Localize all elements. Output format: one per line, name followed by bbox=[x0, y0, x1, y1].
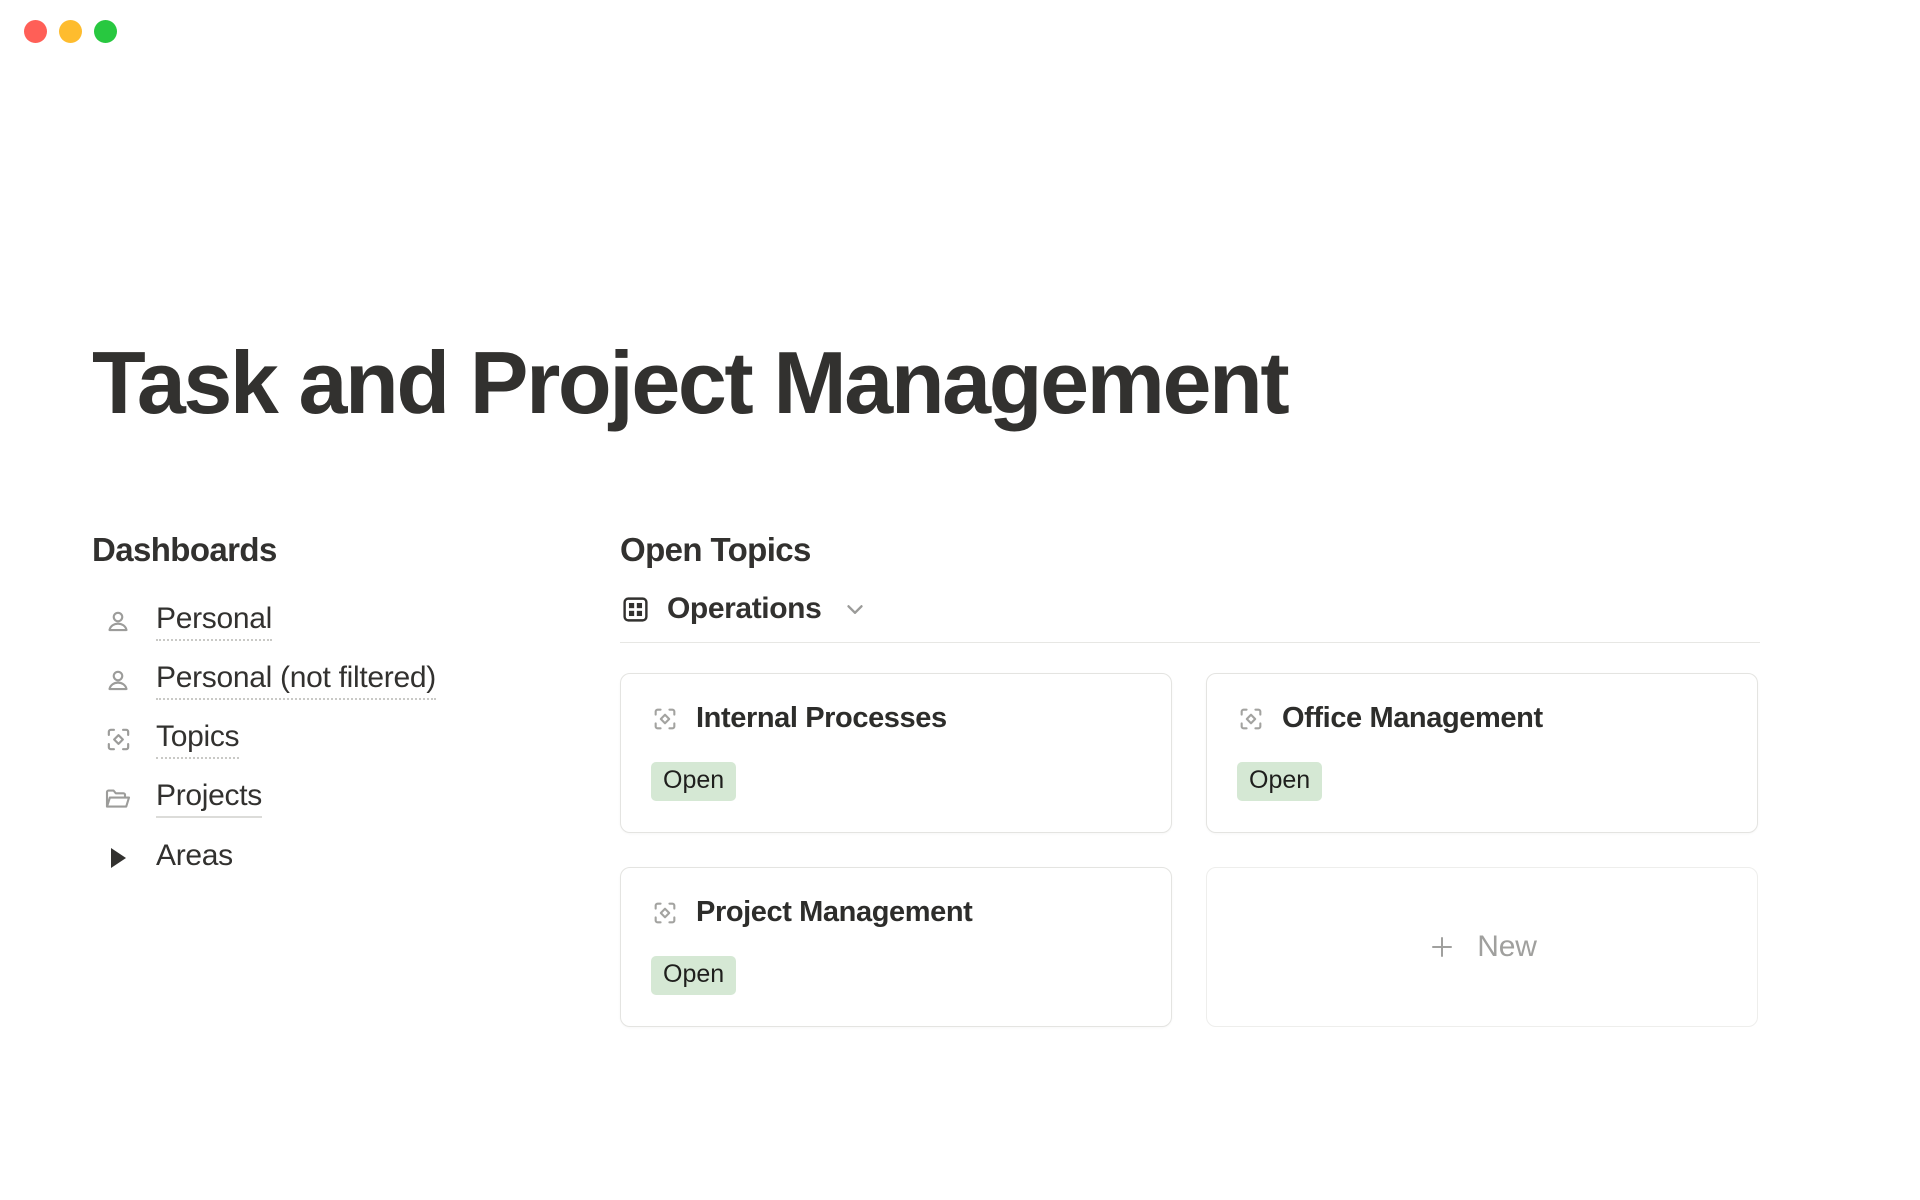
chevron-down-icon[interactable] bbox=[842, 596, 868, 622]
sidebar-item-areas[interactable]: Areas bbox=[92, 828, 620, 887]
minimize-window-button[interactable] bbox=[59, 20, 82, 43]
sidebar-item-label: Personal (not filtered) bbox=[156, 661, 436, 700]
topic-card-grid: Internal Processes Open bbox=[620, 673, 1758, 1027]
new-topic-label: New bbox=[1477, 930, 1536, 964]
sidebar-item-personal[interactable]: Personal bbox=[92, 592, 620, 651]
topic-icon bbox=[102, 724, 134, 756]
status-badge: Open bbox=[1237, 762, 1322, 801]
page-content: Task and Project Management Dashboards P… bbox=[0, 62, 1920, 1200]
topic-card[interactable]: Project Management Open bbox=[620, 867, 1172, 1027]
sidebar-item-label: Areas bbox=[156, 839, 233, 876]
topic-card-title: Internal Processes bbox=[696, 702, 947, 735]
grid-table-icon bbox=[620, 594, 650, 624]
page-title: Task and Project Management bbox=[92, 339, 1287, 427]
close-window-button[interactable] bbox=[24, 20, 47, 43]
sidebar-item-label: Personal bbox=[156, 602, 272, 641]
status-badge: Open bbox=[651, 956, 736, 995]
new-topic-inner: New bbox=[1427, 930, 1536, 964]
window-titlebar bbox=[0, 0, 1920, 62]
plus-icon bbox=[1427, 932, 1457, 962]
sidebar-item-projects[interactable]: Projects bbox=[92, 769, 620, 828]
open-topics-heading: Open Topics bbox=[620, 532, 1860, 568]
topic-icon bbox=[651, 705, 679, 733]
sidebar-item-label: Projects bbox=[156, 779, 262, 818]
dashboards-heading: Dashboards bbox=[92, 532, 620, 568]
group-name: Operations bbox=[667, 592, 821, 626]
sidebar-item-topics[interactable]: Topics bbox=[92, 710, 620, 769]
new-topic-card[interactable]: New bbox=[1206, 867, 1758, 1027]
triangle-right-icon[interactable] bbox=[102, 842, 134, 874]
sidebar-item-label: Topics bbox=[156, 720, 239, 759]
topic-card-header: Project Management bbox=[651, 896, 1141, 929]
sidebar-item-personal-not-filtered[interactable]: Personal (not filtered) bbox=[92, 651, 620, 710]
status-badge: Open bbox=[651, 762, 736, 801]
person-icon bbox=[102, 665, 134, 697]
topic-icon bbox=[1237, 705, 1265, 733]
open-topics-column: Open Topics Operations bbox=[620, 532, 1920, 1027]
topic-card[interactable]: Internal Processes Open bbox=[620, 673, 1172, 833]
group-divider bbox=[620, 642, 1760, 643]
topic-card[interactable]: Office Management Open bbox=[1206, 673, 1758, 833]
content-columns: Dashboards Personal bbox=[0, 532, 1920, 1027]
dashboards-column: Dashboards Personal bbox=[0, 532, 620, 1027]
topic-card-header: Internal Processes bbox=[651, 702, 1141, 735]
zoom-window-button[interactable] bbox=[94, 20, 117, 43]
group-header-operations[interactable]: Operations bbox=[620, 592, 1860, 626]
person-icon bbox=[102, 606, 134, 638]
topic-card-title: Project Management bbox=[696, 896, 972, 929]
topic-card-header: Office Management bbox=[1237, 702, 1727, 735]
dashboards-list: Personal Personal (not filtered) bbox=[92, 592, 620, 887]
topic-icon bbox=[651, 899, 679, 927]
topic-card-title: Office Management bbox=[1282, 702, 1543, 735]
folder-open-icon bbox=[102, 783, 134, 815]
